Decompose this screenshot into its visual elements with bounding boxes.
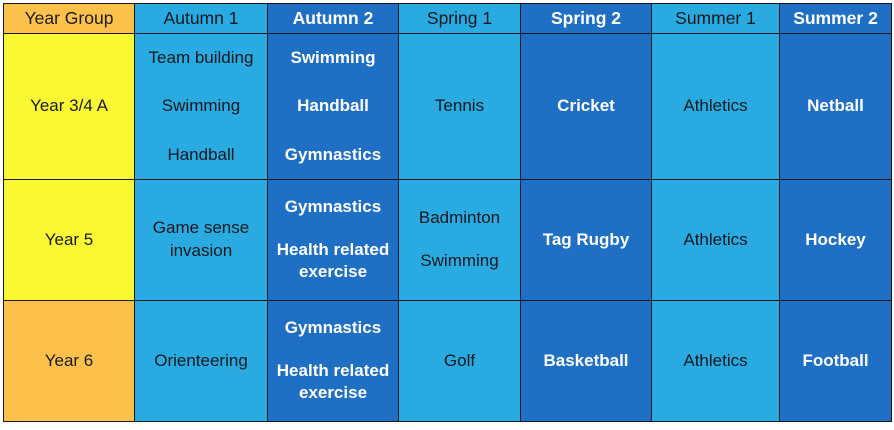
year-group-cell: Year 5 [4, 180, 135, 301]
summer-1-cell: Athletics [652, 34, 780, 180]
spring-1-cell: Golf [399, 301, 521, 422]
activity-label: Badminton [419, 207, 500, 230]
table-row: Year 6 Orienteering Gymnastics Health re… [4, 301, 892, 422]
spring-2-cell: Tag Rugby [521, 180, 652, 301]
activity-label: Gymnastics [285, 317, 381, 340]
column-header-year-group: Year Group [4, 4, 135, 34]
spring-1-cell: Tennis [399, 34, 521, 180]
column-header-autumn-1: Autumn 1 [135, 4, 268, 34]
spring-2-cell: Cricket [521, 34, 652, 180]
year-group-cell: Year 6 [4, 301, 135, 422]
activity-label: Gymnastics [285, 196, 381, 219]
column-header-spring-1: Spring 1 [399, 4, 521, 34]
autumn-2-cell: Gymnastics Health related exercise [268, 180, 399, 301]
activity-label: Health related exercise [271, 239, 395, 284]
autumn-1-cell: Orienteering [135, 301, 268, 422]
column-header-summer-1: Summer 1 [652, 4, 780, 34]
table-row: Year 3/4 A Team building Swimming Handba… [4, 34, 892, 180]
activity-label: Swimming [290, 47, 375, 70]
summer-1-cell: Athletics [652, 180, 780, 301]
table-row: Year 5 Game sense invasion Gymnastics He… [4, 180, 892, 301]
autumn-2-cell: Swimming Handball Gymnastics [268, 34, 399, 180]
column-header-autumn-2: Autumn 2 [268, 4, 399, 34]
autumn-1-cell: Game sense invasion [135, 180, 268, 301]
summer-2-cell: Hockey [780, 180, 892, 301]
table-header-row: Year Group Autumn 1 Autumn 2 Spring 1 Sp… [4, 4, 892, 34]
column-header-summer-2: Summer 2 [780, 4, 892, 34]
curriculum-overview-table: Year Group Autumn 1 Autumn 2 Spring 1 Sp… [3, 3, 892, 422]
activity-label: Gymnastics [285, 144, 381, 167]
year-group-cell: Year 3/4 A [4, 34, 135, 180]
summer-2-cell: Football [780, 301, 892, 422]
column-header-spring-2: Spring 2 [521, 4, 652, 34]
activity-label: Swimming [420, 250, 498, 273]
autumn-2-cell: Gymnastics Health related exercise [268, 301, 399, 422]
spring-2-cell: Basketball [521, 301, 652, 422]
activity-label: Team building [149, 47, 254, 70]
activity-label: Health related exercise [271, 360, 395, 405]
activity-label: Handball [297, 95, 369, 118]
summer-1-cell: Athletics [652, 301, 780, 422]
summer-2-cell: Netball [780, 34, 892, 180]
autumn-1-cell: Team building Swimming Handball [135, 34, 268, 180]
spring-1-cell: Badminton Swimming [399, 180, 521, 301]
activity-label: Handball [167, 144, 234, 167]
activity-label: Swimming [162, 95, 240, 118]
